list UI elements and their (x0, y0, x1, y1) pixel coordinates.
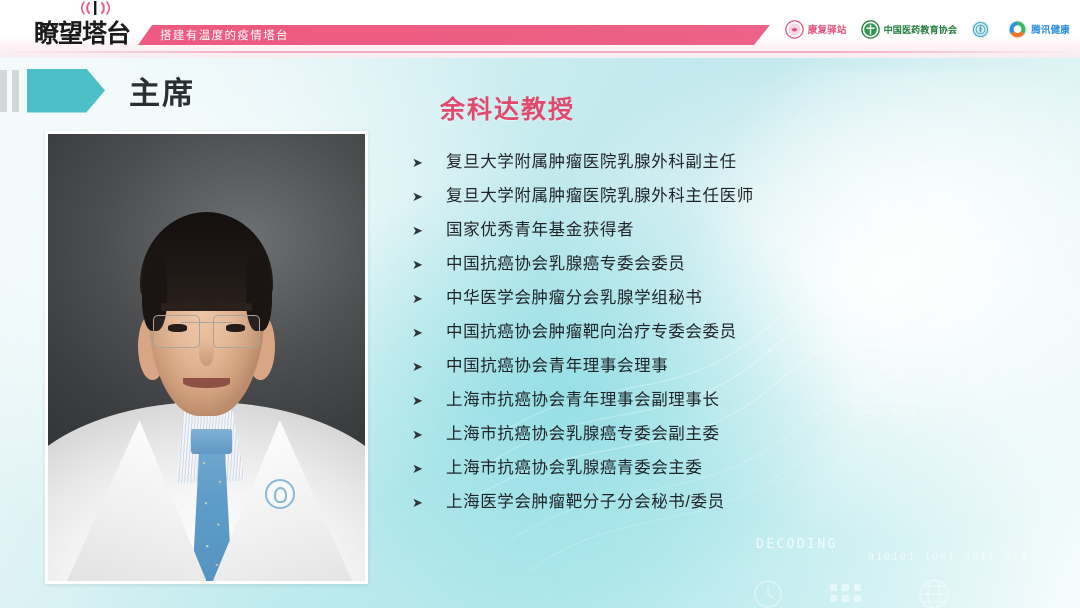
sponsor-logo-3[interactable] (971, 16, 994, 42)
bullet-icon: ➤ (412, 283, 446, 317)
list-item: ➤ 复旦大学附属肿瘤医院乳腺外科副主任 (412, 145, 1052, 179)
list-item: ➤ 上海医学会肿瘤靶分子分会秘书/委员 (412, 485, 1052, 519)
sponsor-logo-row: 康复驿站 中国医药教育协会 (785, 14, 1070, 44)
bullet-icon: ➤ (412, 453, 446, 487)
section-title-group: 主席 (0, 68, 195, 113)
bullet-icon: ➤ (412, 351, 446, 385)
bullet-icon: ➤ (412, 419, 446, 453)
bullet-icon: ➤ (412, 317, 446, 351)
bullet-icon: ➤ (412, 487, 446, 521)
list-item: ➤ 上海市抗癌协会青年理事会副理事长 (412, 383, 1052, 417)
sponsor-logo-2[interactable]: 中国医药教育协会 (861, 16, 958, 42)
list-item-label: 中华医学会肿瘤分会乳腺学组秘书 (446, 281, 703, 315)
list-item-label: 上海市抗癌协会乳腺癌专委会副主委 (446, 417, 720, 451)
list-item-label: 中国抗癌协会乳腺癌专委会委员 (446, 247, 685, 281)
list-item: ➤ 复旦大学附属肿瘤医院乳腺外科主任医师 (412, 179, 1052, 213)
sponsor-logo-4-label: 腾讯健康 (1031, 22, 1070, 36)
bullet-icon: ➤ (412, 249, 446, 283)
list-item-label: 国家优秀青年基金获得者 (446, 213, 634, 247)
list-item-label: 上海市抗癌协会青年理事会副理事长 (446, 383, 720, 417)
list-item: ➤ 国家优秀青年基金获得者 (412, 213, 1052, 247)
sponsor-teal-emblem-icon (971, 20, 990, 39)
glasses-bridge (181, 322, 232, 323)
glasses-lens-left (153, 315, 200, 348)
sponsor-green-seal-icon (861, 20, 880, 39)
tagline-text: 搭建有温度的疫情塔台 (160, 27, 289, 43)
brand-name: 瞭望塔台 (34, 20, 130, 48)
list-item: ➤ 上海市抗癌协会乳腺癌青委会主委 (412, 451, 1052, 485)
bullet-icon: ➤ (412, 215, 446, 249)
list-item: ➤ 上海市抗癌协会乳腺癌专委会副主委 (412, 417, 1052, 451)
bullet-icon: ➤ (412, 181, 446, 215)
background-decoration-icons (752, 576, 1012, 608)
sponsor-pink-seal-icon (785, 20, 804, 39)
bullet-icon: ➤ (412, 385, 446, 419)
tencent-health-icon (1008, 20, 1027, 39)
list-item-label: 中国抗癌协会青年理事会理事 (446, 349, 668, 383)
sponsor-logo-4[interactable]: 腾讯健康 (1008, 16, 1070, 42)
sponsor-logo-1-label: 康复驿站 (808, 22, 847, 36)
speaker-photo-frame (45, 131, 368, 584)
list-item-label: 中国抗癌协会肿瘤靶向治疗专委会委员 (446, 315, 737, 349)
signal-waves-icon (78, 1, 112, 15)
speaker-name: 余科达教授 (440, 90, 575, 126)
list-item: ➤ 中国抗癌协会青年理事会理事 (412, 349, 1052, 383)
tagline-banner: 搭建有温度的疫情塔台 (138, 25, 770, 45)
sponsor-logo-1[interactable]: 康复驿站 (785, 16, 847, 42)
portrait-eye-left (168, 324, 187, 331)
title-tick-1 (0, 70, 7, 112)
credentials-list: ➤ 复旦大学附属肿瘤医院乳腺外科副主任 ➤ 复旦大学附属肿瘤医院乳腺外科主任医师… (412, 145, 1052, 519)
list-item: ➤ 中国抗癌协会肿瘤靶向治疗专委会委员 (412, 315, 1052, 349)
list-item-label: 复旦大学附属肿瘤医院乳腺外科主任医师 (446, 179, 754, 213)
portrait-eye-right (226, 324, 245, 331)
list-item: ➤ 中华医学会肿瘤分会乳腺学组秘书 (412, 281, 1052, 315)
list-item-label: 上海市抗癌协会乳腺癌青委会主委 (446, 451, 703, 485)
list-item-label: 上海医学会肿瘤靶分子分会秘书/委员 (446, 485, 725, 519)
title-pennant-shape (27, 69, 105, 113)
glasses-lens-right (213, 315, 260, 348)
decoding-label: DECODING (756, 537, 838, 552)
binary-strip-label: 010101 1001 0011 010 (868, 552, 1028, 563)
speaker-portrait (48, 134, 365, 581)
slide-canvas: 0 0 1 0 1 1 0 0 1 0 DATA ANALYSIS 001 01… (0, 0, 1080, 608)
sponsor-logo-2-label: 中国医药教育协会 (884, 23, 958, 36)
header-divider (0, 51, 1080, 53)
brand-logo-group[interactable]: 瞭望塔台 (34, 12, 130, 48)
list-item-label: 复旦大学附属肿瘤医院乳腺外科副主任 (446, 145, 737, 179)
header-bar: 瞭望塔台 搭建有温度的疫情塔台 (0, 0, 1080, 58)
page-title: 主席 (129, 68, 195, 113)
portrait-tie-knot (191, 429, 232, 454)
title-tick-2 (12, 70, 19, 112)
bullet-icon: ➤ (412, 147, 446, 181)
list-item: ➤ 中国抗癌协会乳腺癌专委会委员 (412, 247, 1052, 281)
